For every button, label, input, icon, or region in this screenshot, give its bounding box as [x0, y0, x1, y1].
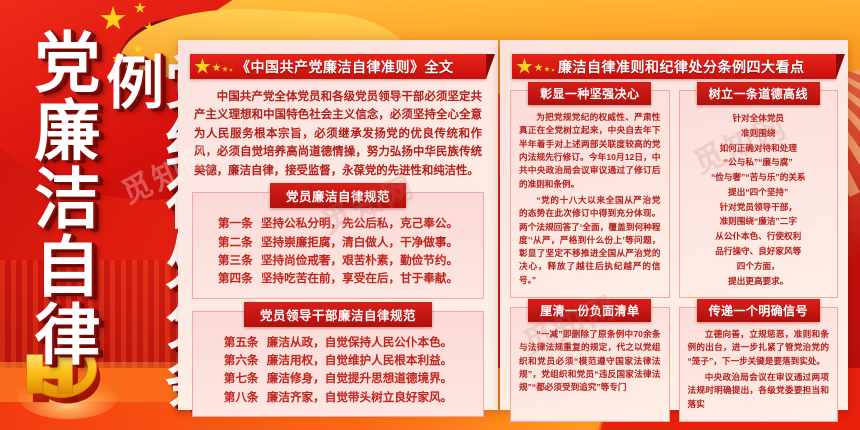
- clause-text: 廉洁用权，自觉维护人民根本利益。: [267, 354, 453, 367]
- poster-root: 党廉洁自律 党纪律处分条例 《中国共产党廉洁自律准则》全文 中国共产党全体党员和…: [0, 0, 860, 430]
- list-item: 第五条 廉洁从政，自觉保持人民公仆本色。: [203, 334, 473, 352]
- card-heading: 彰显一种坚强决心: [528, 82, 651, 105]
- card-body: 为把党规党纪的权威性、严肃性真正在全党树立起来，中央自去年下半年着手对上述两部关…: [519, 111, 661, 287]
- clause-number: 第七条: [224, 372, 259, 385]
- clause-number: 第二条: [218, 236, 253, 249]
- clause-text: 廉洁从政，自觉保持人民公仆本色。: [267, 336, 453, 349]
- clause-number: 第五条: [224, 336, 259, 349]
- clause-number: 第六条: [224, 354, 259, 367]
- right-panel-banner: 廉洁自律准则和纪律处分条例四大看点: [512, 54, 836, 79]
- left-content-panel: 《中国共产党廉洁自律准则》全文 中国共产党全体党员和各级党员领导干部必须坚定共产…: [178, 40, 498, 410]
- card-line: 针对全体党员: [688, 111, 830, 126]
- card-line: 提出更高要求。: [688, 274, 830, 289]
- section-leading-cadre-norms: 党员领导干部廉洁自律规范 第五条 廉洁从政，自觉保持人民公仆本色。 第六条 廉洁…: [192, 311, 484, 417]
- card-line: 如何正确对待和处理: [688, 141, 830, 156]
- card-line: 提出“四个坚持”: [688, 185, 830, 200]
- card-line: “俭与奢”“苦与乐”的关系: [688, 170, 830, 185]
- clause-text: 坚持公私分明，先公后私，克己奉公。: [261, 217, 458, 230]
- list-item: 第七条 廉洁修身，自觉提升思想道德境界。: [203, 370, 473, 388]
- list-item: 第二条 坚持崇廉拒腐，清白做人，干净做事。: [203, 234, 473, 252]
- flag-star-large: [100, 6, 126, 32]
- list-item: 第八条 廉洁齐家，自觉带头树立良好家风。: [203, 389, 473, 407]
- clause-text: 坚持吃苦在前，享受在后，甘于奉献。: [261, 272, 458, 285]
- clause-number: 第一条: [218, 217, 253, 230]
- clause-text: 坚持崇廉拒腐，清白做人，干净做事。: [261, 236, 458, 249]
- card-line: 从公仆本色、行使权利: [688, 229, 830, 244]
- card-line: “公与私”“廉与腐”: [688, 155, 830, 170]
- card-line: 品行操守、良好家风等: [688, 244, 830, 259]
- highlight-card-determination: 彰显一种坚强决心 为把党规党纪的权威性、严肃性真正在全党树立起来，中央自去年下半…: [510, 90, 670, 298]
- list-item: 第四条 坚持吃苦在前，享受在后，甘于奉献。: [203, 270, 473, 288]
- clause-number: 第四条: [218, 272, 253, 285]
- card-paragraph: 为把党规党纪的权威性、严肃性真正在全党树立起来，中央自去年下半年着手对上述两部关…: [519, 111, 661, 191]
- card-body: 立德向善，立规惩恶，准则和条例的出台，进一步扎紧了管党治党的“笼子”，下一步关键…: [688, 328, 830, 411]
- card-heading: 厘清一份负面清单: [528, 299, 651, 322]
- clause-number: 第八条: [224, 391, 259, 404]
- page-title-main: 党廉洁自律: [28, 28, 95, 368]
- card-heading: 树立一条道德高线: [697, 82, 820, 105]
- card-heading: 传递一个明确信号: [697, 299, 820, 322]
- card-body: “一减”即删除了原条例中70余条与法律法规重复的规定，代之以党组织和党员必须“模…: [519, 328, 661, 395]
- clause-text: 坚持尚俭戒奢，艰苦朴素，勤俭节约。: [261, 254, 458, 267]
- clause-list: 第五条 廉洁从政，自觉保持人民公仆本色。 第六条 廉洁用权，自觉维护人民根本利益…: [193, 334, 483, 407]
- section-party-member-norms: 党员廉洁自律规范 第一条 坚持公私分明，先公后私，克己奉公。 第二条 坚持崇廉拒…: [192, 192, 484, 298]
- card-line: 四个方面，: [688, 259, 830, 274]
- card-paragraph: “党的十八大以来全国从严治党的态势在此次修订中得到充分体现。两个法规回答了‘全面…: [519, 194, 661, 287]
- flag-star-small-1: [134, 2, 146, 14]
- list-item: 第一条 坚持公私分明，先公后私，克己奉公。: [203, 215, 473, 233]
- highlight-card-grid: 彰显一种坚强决心 为把党规党纪的权威性、严肃性真正在全党树立起来，中央自去年下半…: [510, 90, 838, 422]
- section-heading: 党员廉洁自律规范: [270, 183, 406, 208]
- clause-number: 第三条: [218, 254, 253, 267]
- list-item: 第六条 廉洁用权，自觉维护人民根本利益。: [203, 352, 473, 370]
- card-line: 准则围绕: [688, 126, 830, 141]
- list-item: 第三条 坚持尚俭戒奢，艰苦朴素，勤俭节约。: [203, 252, 473, 270]
- flag-star-small-2: [144, 22, 155, 33]
- section-heading: 党员领导干部廉洁自律规范: [244, 302, 432, 327]
- card-line: 准则围绕“廉洁”二字: [688, 214, 830, 229]
- clause-text: 廉洁齐家，自觉带头树立良好家风。: [267, 391, 453, 404]
- highlight-card-negative-list: 厘清一份负面清单 “一减”即删除了原条例中70余条与法律法规重复的规定，代之以党…: [510, 307, 670, 422]
- card-paragraph: 立德向善，立规惩恶，准则和条例的出台，进一步扎紧了管党治党的“笼子”，下一步关键…: [688, 328, 830, 368]
- left-panel-banner: 《中国共产党廉洁自律准则》全文: [190, 54, 486, 79]
- banner-stars-icon: [512, 54, 558, 79]
- card-paragraph: 中央政治局会议在审议通过两项法规时明确提出，各级党委要担当和落实: [688, 371, 830, 411]
- card-body: 针对全体党员 准则围绕 如何正确对待和处理 “公与私”“廉与腐” “俭与奢”“苦…: [688, 111, 830, 288]
- highlight-card-moral-line: 树立一条道德高线 针对全体党员 准则围绕 如何正确对待和处理 “公与私”“廉与腐…: [679, 90, 839, 298]
- card-line: 针对党员领导干部，: [688, 200, 830, 215]
- left-panel-banner-label: 《中国共产党廉洁自律准则》全文: [236, 57, 454, 77]
- clause-list: 第一条 坚持公私分明，先公后私，克己奉公。 第二条 坚持崇廉拒腐，清白做人，干净…: [193, 215, 483, 288]
- right-content-panel: 廉洁自律准则和纪律处分条例四大看点 彰显一种坚强决心 为把党规党纪的权威性、严肃…: [500, 40, 848, 410]
- clause-text: 廉洁修身，自觉提升思想道德境界。: [267, 372, 453, 385]
- card-paragraph: “一减”即删除了原条例中70余条与法律法规重复的规定，代之以党组织和党员必须“模…: [519, 328, 661, 395]
- left-panel-intro-paragraph: 中国共产党全体党员和各级党员领导干部必须坚定共产主义理想和中国特色社会主义信念，…: [194, 88, 482, 180]
- right-panel-banner-label: 廉洁自律准则和纪律处分条例四大看点: [558, 57, 805, 77]
- banner-stars-icon: [190, 54, 236, 79]
- highlight-card-clear-signal: 传递一个明确信号 立德向善，立规惩恶，准则和条例的出台，进一步扎紧了管党治党的“…: [679, 307, 839, 422]
